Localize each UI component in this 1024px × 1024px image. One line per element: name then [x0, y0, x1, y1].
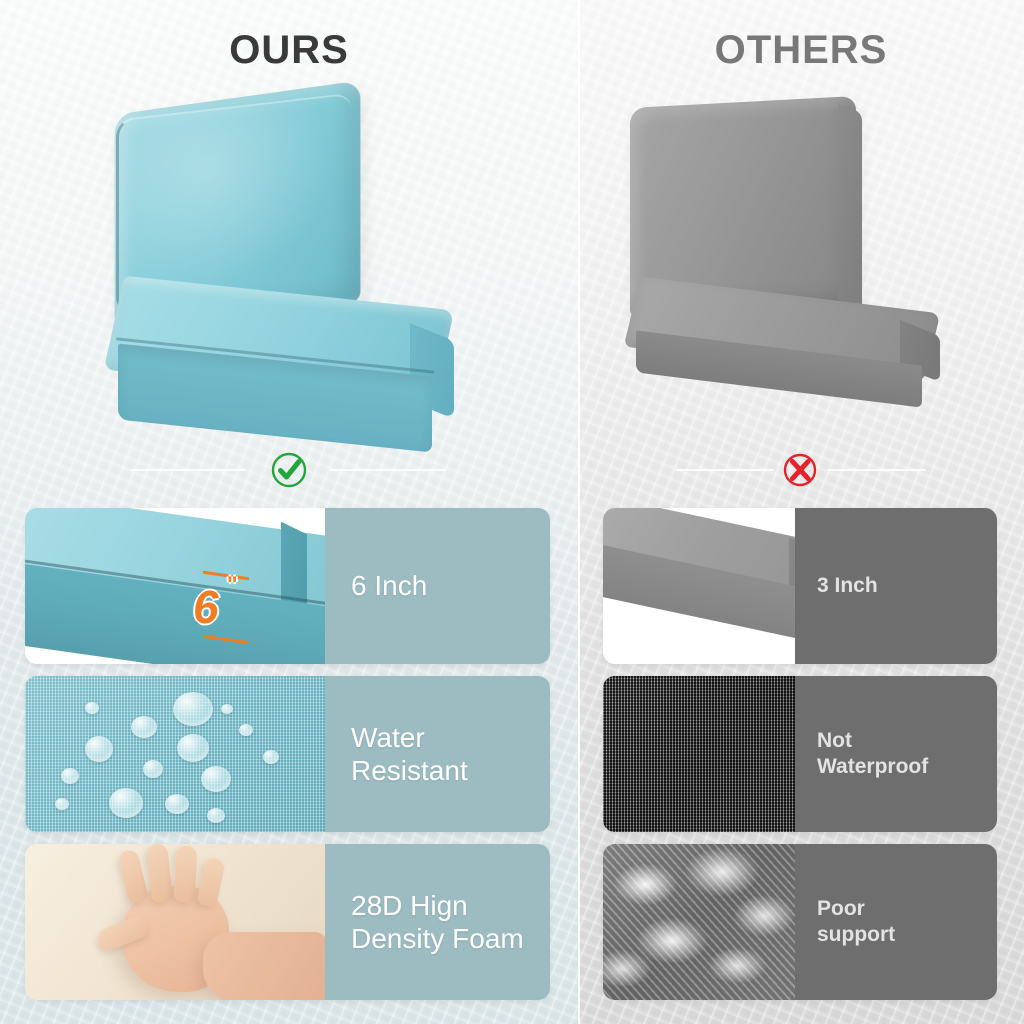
- feature-label-line2: Density Foam: [351, 923, 524, 954]
- verdict-rule-right: [330, 469, 446, 471]
- feature-card-ours-foam[interactable]: 28D Hign Density Foam: [25, 844, 550, 1000]
- ours-water-panel: Water Resistant: [325, 676, 550, 832]
- water-droplet: [55, 798, 69, 810]
- feature-label: 6 Inch: [351, 569, 427, 602]
- others-mesh-photo: [603, 676, 795, 832]
- water-droplet: [61, 768, 79, 784]
- water-droplet: [207, 808, 225, 823]
- others-water-panel: Not Waterproof: [795, 676, 997, 832]
- measure-number: 6: [193, 580, 218, 634]
- feature-label-line2: Resistant: [351, 755, 468, 786]
- feature-card-ours-water[interactable]: Water Resistant: [25, 676, 550, 832]
- verdict-rule-right: [828, 469, 926, 471]
- green-check-circle-icon: [267, 448, 311, 492]
- feature-label-line2: support: [817, 923, 895, 946]
- ours-foam-photo: [25, 844, 325, 1000]
- others-fiber-photo: [603, 844, 795, 1000]
- red-cross-circle-icon: [778, 448, 822, 492]
- others-thickness-photo: [603, 508, 795, 664]
- ours-water-photo: [25, 676, 325, 832]
- water-droplet: [201, 766, 231, 792]
- column-divider: [578, 0, 580, 1024]
- hero-image-others: [612, 96, 992, 426]
- ours-foam-panel: 28D Hign Density Foam: [325, 844, 550, 1000]
- feature-card-others-support[interactable]: Poor support: [603, 844, 997, 1000]
- water-droplet: [263, 750, 279, 764]
- feature-label: Water Resistant: [351, 721, 468, 787]
- feature-label: 3 Inch: [817, 573, 878, 599]
- water-droplet: [131, 716, 157, 738]
- feature-label-line1: Water: [351, 722, 425, 753]
- water-droplet: [165, 794, 189, 814]
- ours-thickness-photo: 6 ": [25, 508, 325, 664]
- hand-finger: [174, 845, 198, 902]
- hand-finger: [117, 848, 149, 903]
- feature-label-line2: Waterproof: [817, 755, 928, 778]
- water-droplet: [85, 736, 113, 762]
- ours-thickness-panel: 6 Inch: [325, 508, 550, 664]
- water-droplet: [109, 788, 143, 818]
- water-droplet: [221, 704, 233, 714]
- water-droplet: [85, 702, 99, 714]
- others-thickness-panel: 3 Inch: [795, 508, 997, 664]
- feature-label-line1: Not: [817, 729, 852, 752]
- feature-card-others-water[interactable]: Not Waterproof: [603, 676, 997, 832]
- feature-label-line1: Poor: [817, 897, 865, 920]
- feature-label: 28D Hign Density Foam: [351, 889, 524, 955]
- others-support-panel: Poor support: [795, 844, 997, 1000]
- water-droplet: [173, 692, 213, 726]
- verdict-ours: [0, 448, 578, 492]
- feature-label-line1: 28D Hign: [351, 890, 468, 921]
- heading-ours: OURS: [0, 28, 578, 73]
- feature-card-ours-thickness[interactable]: 6 " 6 Inch: [25, 508, 550, 664]
- hand-finger: [196, 856, 226, 907]
- measure-unit: ": [227, 572, 237, 598]
- water-droplet: [143, 760, 163, 778]
- others-back-side: [838, 104, 862, 309]
- verdict-rule-left: [130, 469, 246, 471]
- verdict-others: [578, 448, 1024, 492]
- water-droplet: [177, 734, 209, 762]
- feature-label: Poor support: [817, 896, 895, 947]
- comparison-infographic: OURS OTHERS: [0, 0, 1024, 1024]
- verdict-rule-left: [676, 469, 774, 471]
- water-droplet: [239, 724, 253, 736]
- feature-label: Not Waterproof: [817, 728, 928, 779]
- feature-card-others-thickness[interactable]: 3 Inch: [603, 508, 997, 664]
- heading-others: OTHERS: [578, 28, 1024, 73]
- hand-wrist: [203, 932, 325, 1000]
- hero-image-ours: [96, 92, 506, 447]
